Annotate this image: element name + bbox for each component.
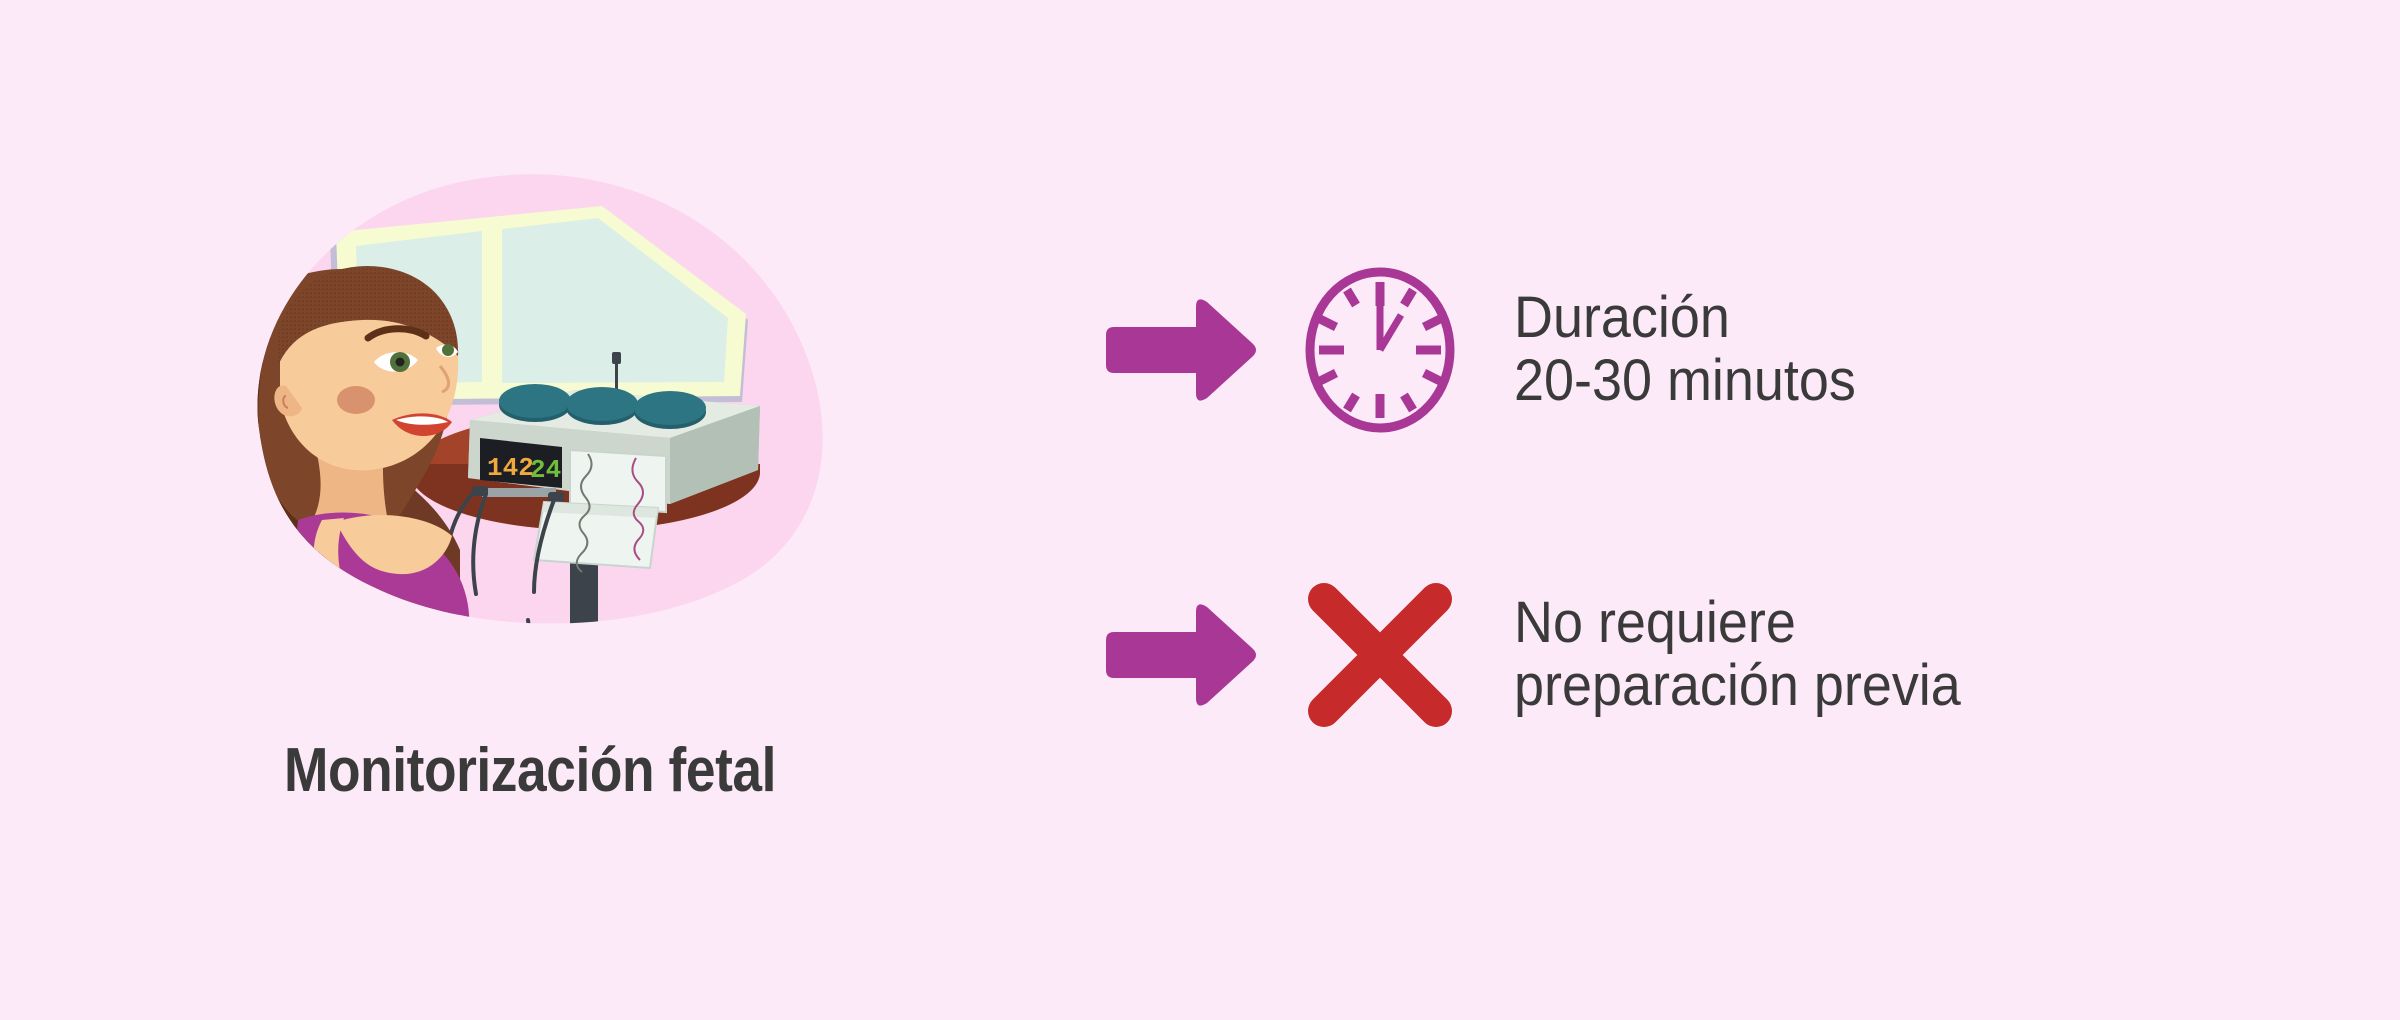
monitor-heart-rate-value: 142: [487, 453, 534, 483]
preparation-text: No requiere preparación previa: [1514, 592, 1961, 717]
clock-icon: [1300, 263, 1460, 438]
preparation-line-1: No requiere: [1514, 592, 1961, 655]
duration-text: Duración 20-30 minutos: [1514, 287, 1856, 412]
fact-row-preparation: No requiere preparación previa: [1100, 555, 1994, 755]
fetal-monitoring-illustration: 142 24: [130, 120, 890, 720]
arrow-right-icon: [1100, 295, 1260, 405]
arrow-right-icon: [1100, 600, 1260, 710]
facts-block: Duración 20-30 minutos No requiere prepa…: [1100, 0, 2400, 1020]
cross-x-icon: [1300, 575, 1460, 735]
monitor-contraction-value: 24: [530, 455, 561, 485]
illustration-caption: Monitorización fetal: [74, 735, 986, 806]
infographic-root: 142 24: [0, 0, 2400, 1020]
preparation-line-2: preparación previa: [1514, 655, 1961, 718]
duration-icon-slot: [1290, 260, 1470, 440]
duration-line-1: Duración: [1514, 287, 1856, 350]
fact-row-duration: Duración 20-30 minutos: [1100, 250, 1882, 450]
monitoring-belts: [364, 620, 619, 720]
preparation-icon-slot: [1290, 565, 1470, 745]
illustration-block: 142 24: [0, 0, 1060, 1020]
duration-line-2: 20-30 minutos: [1514, 350, 1856, 413]
